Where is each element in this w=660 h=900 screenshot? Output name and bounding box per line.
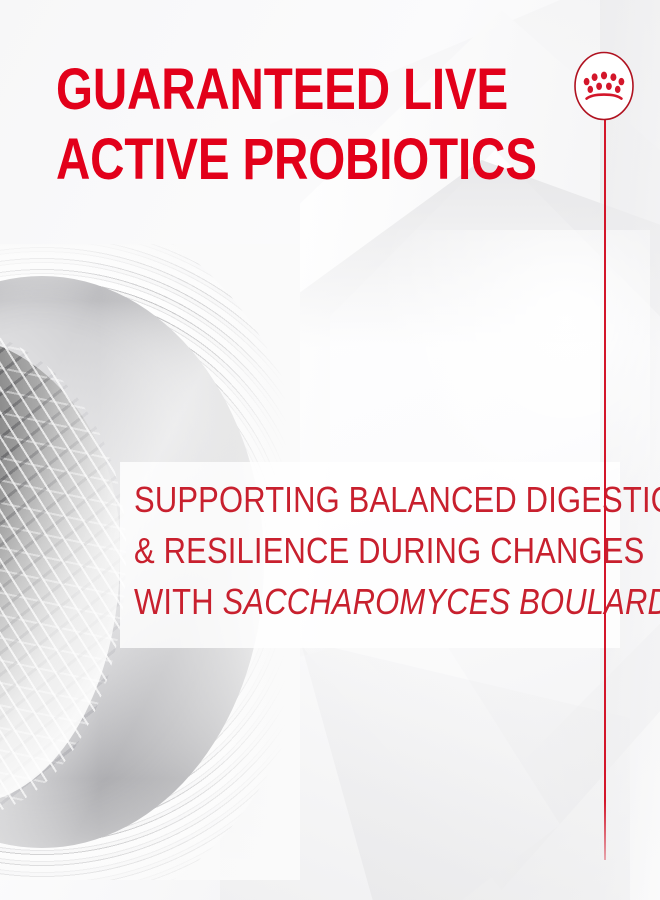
subtitle-species-name: SACCHAROMYCES BOULARDII: [223, 581, 660, 622]
wet-food-strands: [0, 326, 126, 816]
subtitle-line-3-prefix: WITH: [134, 581, 223, 622]
subtitle-block: SUPPORTING BALANCED DIGESTION & RESILIEN…: [134, 474, 634, 627]
subtitle-line-3: WITH SACCHAROMYCES BOULARDII: [134, 576, 564, 627]
subtitle-line-1: SUPPORTING BALANCED DIGESTION: [134, 474, 564, 525]
accent-vertical-rule: [604, 120, 606, 860]
page-title: GUARANTEED LIVE ACTIVE PROBIOTICS: [56, 62, 576, 188]
headline-line-2: ACTIVE PROBIOTICS: [56, 132, 482, 188]
headline-line-1: GUARANTEED LIVE: [56, 62, 482, 118]
royal-canin-crown-icon: [573, 50, 635, 122]
subtitle-line-2: & RESILIENCE DURING CHANGES: [134, 525, 564, 576]
probiotics-promo-poster: GUARANTEED LIVE ACTIVE PROBIOTICS SUPPOR…: [0, 0, 660, 900]
